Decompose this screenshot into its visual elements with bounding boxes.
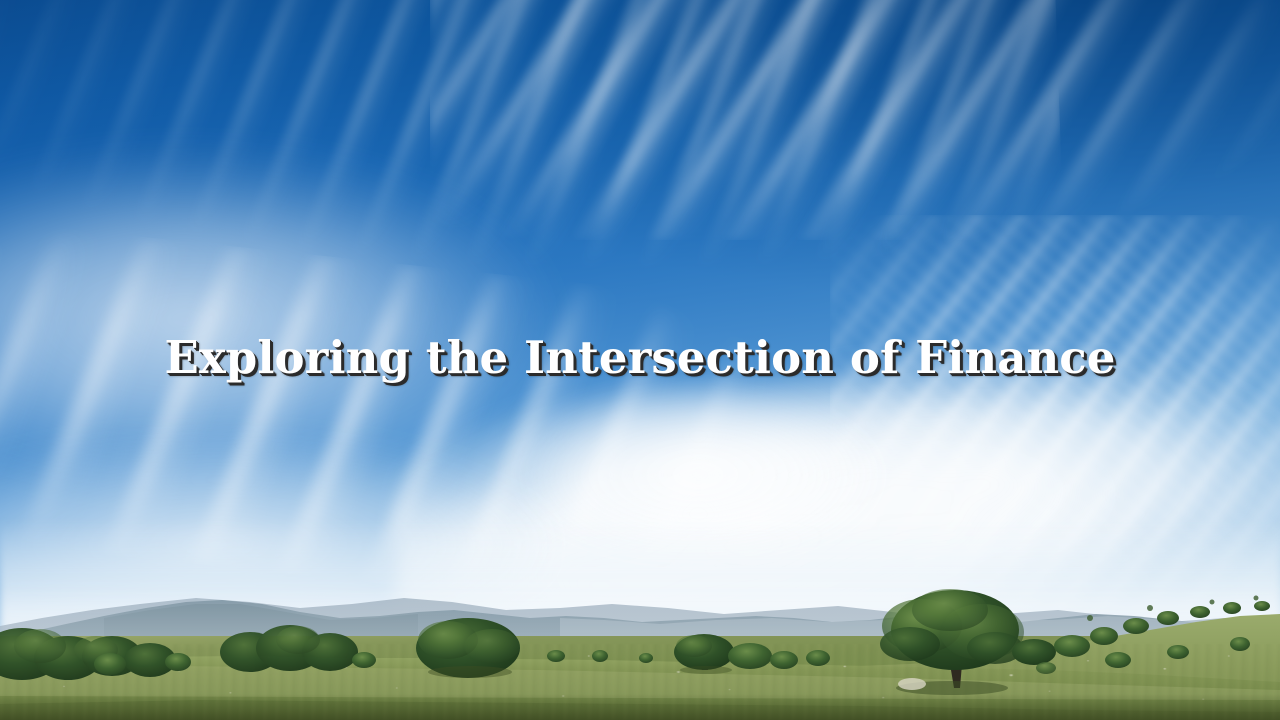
hero-tree xyxy=(880,589,1024,695)
page-title: Exploring the Intersection of Finance xyxy=(164,334,1115,383)
tree-line xyxy=(0,560,1280,720)
slide-canvas: Exploring the Intersection of Finance xyxy=(0,0,1280,720)
